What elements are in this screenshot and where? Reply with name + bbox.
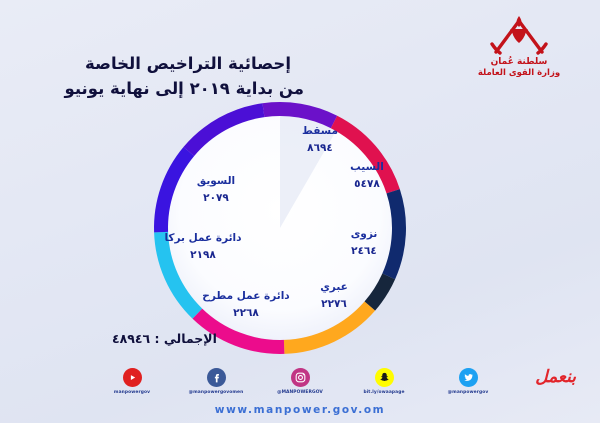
- twitter-icon[interactable]: [459, 368, 478, 387]
- total-label: الإجمالي : ٤٨٩٤٦: [112, 331, 217, 346]
- social-link-youtube[interactable]: manpowergov: [101, 368, 163, 395]
- social-handle: bit.ly/owaapage: [353, 390, 415, 395]
- infographic-canvas: إحصائية التراخيص الخاصة من بداية ٢٠١٩ إل…: [0, 0, 600, 423]
- instagram-icon[interactable]: [291, 368, 310, 387]
- social-handle: manpowergov: [101, 390, 163, 395]
- social-link-facebook[interactable]: @manpowergovomen: [185, 368, 247, 395]
- facebook-icon[interactable]: [207, 368, 226, 387]
- campaign-brand-mark: بنعمل: [535, 367, 576, 387]
- social-link-snapchat[interactable]: bit.ly/owaapage: [353, 368, 415, 395]
- website-url[interactable]: www.manpower.gov.om: [0, 404, 600, 416]
- social-link-instagram[interactable]: @MANPOWERGOV: [269, 368, 331, 395]
- oman-khanjar-emblem-icon: [486, 14, 552, 56]
- youtube-icon[interactable]: [123, 368, 142, 387]
- emblem-line-2: وزارة القوى العاملة: [456, 68, 582, 79]
- snapchat-icon[interactable]: [375, 368, 394, 387]
- donut-chart-svg: [140, 95, 420, 365]
- donut-chart: مسقط ٨٦٩٤ السيب ٥٤٧٨ نزوى ٢٤٦٤ عبري ٢٢٧٦…: [140, 95, 420, 365]
- social-handle: @manpowergovomen: [185, 390, 247, 395]
- social-handle: @manpowergov: [437, 390, 499, 395]
- emblem-line-1: سلطنة عُمان: [456, 57, 582, 68]
- emblem-text: سلطنة عُمان وزارة القوى العاملة: [456, 57, 582, 79]
- title-line-1: إحصائية التراخيص الخاصة: [72, 52, 304, 77]
- social-media-bar: manpowergov@manpowergovomen@MANPOWERGOVb…: [0, 368, 600, 402]
- social-handle: @MANPOWERGOV: [269, 390, 331, 395]
- ministry-emblem: سلطنة عُمان وزارة القوى العاملة: [456, 14, 582, 79]
- social-link-twitter[interactable]: @manpowergov: [437, 368, 499, 395]
